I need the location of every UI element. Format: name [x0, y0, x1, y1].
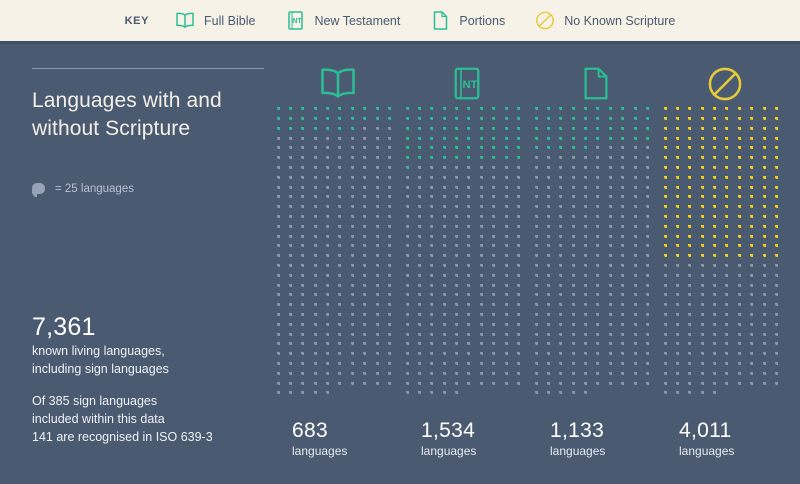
dot-cell — [326, 226, 338, 236]
dot-cell — [288, 324, 300, 334]
dot-cell — [455, 128, 467, 138]
dot-cell — [301, 324, 313, 334]
dot-cell — [288, 226, 300, 236]
dot-cell — [559, 392, 571, 402]
dot-cell — [700, 226, 712, 236]
open-book-icon — [175, 10, 195, 32]
total-languages-line-2: including sign languages — [32, 361, 282, 379]
dot-cell — [725, 275, 737, 285]
dot-cell — [546, 275, 558, 285]
dot-cell — [663, 226, 675, 236]
title-divider — [32, 68, 264, 69]
dot-grid-new-testament — [405, 108, 529, 402]
column-footer-no-known-scripture: 4,011 languages — [663, 420, 792, 458]
dot-cell — [534, 373, 546, 383]
dot-cell — [405, 392, 417, 402]
nt-book-icon: NT — [285, 10, 305, 32]
dot-cell — [688, 177, 700, 187]
dot-cell — [417, 128, 429, 138]
key-legend-bar: KEY Full Bible NT New Testament Port — [0, 0, 800, 44]
dot-cell — [388, 226, 400, 236]
dot-cell — [326, 324, 338, 334]
dot-cell — [633, 177, 645, 187]
dot-cell — [608, 324, 620, 334]
dot-cell — [762, 324, 774, 334]
dot-cell — [596, 275, 608, 285]
dot-cell — [621, 226, 633, 236]
dot-cell — [430, 324, 442, 334]
column-footer-new-testament: 1,534 languages — [405, 420, 534, 458]
dot-cell — [442, 275, 454, 285]
dot-cell — [646, 177, 658, 187]
dot-cell — [492, 324, 504, 334]
open-book-icon — [318, 67, 358, 105]
dot-cell — [737, 382, 749, 392]
dot-cell — [737, 226, 749, 236]
dot-cell — [559, 324, 571, 334]
dot-cell — [571, 392, 583, 402]
unit-key-label: = 25 languages — [55, 183, 134, 195]
dot-cell — [633, 226, 645, 236]
dot-cell — [313, 177, 325, 187]
dot-cell — [559, 177, 571, 187]
dot-cell — [534, 392, 546, 402]
dot-cell — [388, 177, 400, 187]
dot-cell — [546, 226, 558, 236]
dot-cell — [288, 275, 300, 285]
dot-cell — [559, 226, 571, 236]
dot-cell — [417, 177, 429, 187]
page-title: Languages with and without Scripture — [32, 87, 264, 143]
dot-cell — [363, 177, 375, 187]
dot-cell — [338, 177, 350, 187]
dot-cell — [750, 324, 762, 334]
dot-cell — [737, 128, 749, 138]
dot-cell — [350, 275, 362, 285]
dot-cell — [700, 177, 712, 187]
dot-cell — [750, 177, 762, 187]
dot-cell — [725, 324, 737, 334]
dot-cell — [492, 177, 504, 187]
dot-cell — [646, 275, 658, 285]
dot-cell — [775, 324, 787, 334]
dot-cell — [646, 382, 658, 392]
dot-cell — [688, 226, 700, 236]
unit-key: = 25 languages — [32, 183, 264, 195]
dot-cell — [388, 373, 400, 383]
note-line-3: 141 are recognised in ISO 639-3 — [32, 428, 292, 446]
legend-item-full-bible[interactable]: Full Bible — [175, 10, 255, 32]
dot-cell — [479, 382, 491, 392]
dot-cell — [713, 177, 725, 187]
dot-cell — [608, 128, 620, 138]
legend-label-full-bible: Full Bible — [204, 14, 255, 28]
dot-cell — [504, 226, 516, 236]
dot-cell — [584, 128, 596, 138]
dot-cell — [455, 275, 467, 285]
dot-cell — [675, 177, 687, 187]
dot-cell — [621, 382, 633, 392]
dot-cell — [405, 226, 417, 236]
dot-cell — [363, 324, 375, 334]
dot-cell — [750, 382, 762, 392]
legend-label-no-known-scripture: No Known Scripture — [564, 14, 675, 28]
dot-cell — [571, 373, 583, 383]
dot-cell — [725, 226, 737, 236]
dot-cell — [467, 373, 479, 383]
dot-cell — [479, 177, 491, 187]
dot-cell — [338, 373, 350, 383]
dot-cell — [700, 324, 712, 334]
dot-cell — [633, 128, 645, 138]
dot-cell — [517, 177, 529, 187]
dot-cell — [571, 226, 583, 236]
dot-cell — [417, 275, 429, 285]
dot-cell — [534, 275, 546, 285]
dot-cell — [375, 275, 387, 285]
dot-cell — [559, 373, 571, 383]
dot-cell — [688, 392, 700, 402]
dot-cell — [504, 275, 516, 285]
dot-cell — [479, 128, 491, 138]
dot-chart-columns: 683 languages NT 1,534 languages — [276, 64, 792, 458]
dot-cell — [633, 275, 645, 285]
dot-cell — [405, 177, 417, 187]
dot-cell — [479, 324, 491, 334]
no-scripture-icon — [535, 10, 555, 32]
dot-cell — [621, 177, 633, 187]
dot-cell — [663, 324, 675, 334]
dot-cell — [571, 324, 583, 334]
dot-cell — [700, 373, 712, 383]
dot-cell — [775, 275, 787, 285]
dot-cell — [596, 382, 608, 392]
dot-cell — [633, 373, 645, 383]
dot-cell — [675, 128, 687, 138]
total-languages-number: 7,361 — [32, 314, 282, 340]
dot-cell — [663, 128, 675, 138]
dot-cell — [479, 226, 491, 236]
dot-cell — [388, 382, 400, 392]
dot-cell — [375, 373, 387, 383]
dot-cell — [430, 275, 442, 285]
dot-cell — [688, 275, 700, 285]
dot-cell — [608, 373, 620, 383]
dot-cell — [350, 128, 362, 138]
dot-cell — [571, 177, 583, 187]
dot-cell — [517, 275, 529, 285]
dot-cell — [559, 128, 571, 138]
dot-cell — [596, 177, 608, 187]
dot-grid-no-known-scripture — [663, 108, 787, 402]
total-languages-stat: 7,361 known living languages, including … — [32, 314, 282, 379]
dot-cell — [775, 226, 787, 236]
dot-cell — [313, 373, 325, 383]
dot-cell — [596, 226, 608, 236]
dot-cell — [621, 373, 633, 383]
svg-text:NT: NT — [462, 79, 477, 91]
dot-cell — [608, 226, 620, 236]
dot-cell — [301, 226, 313, 236]
dot-cell — [571, 128, 583, 138]
no-scripture-icon — [707, 66, 743, 107]
dot-cell — [663, 275, 675, 285]
dot-cell — [750, 128, 762, 138]
column-unit-new-testament: languages — [421, 444, 534, 458]
dot-cell — [326, 392, 338, 402]
dot-cell — [442, 177, 454, 187]
note-line-1: Of 385 sign languages — [32, 392, 292, 410]
dot-cell — [417, 392, 429, 402]
dot-cell — [517, 324, 529, 334]
dot-cell — [504, 373, 516, 383]
nt-book-icon: NT — [454, 67, 480, 105]
dot-cell — [479, 275, 491, 285]
dot-cell — [633, 324, 645, 334]
dot-cell — [775, 382, 787, 392]
dot-cell — [388, 275, 400, 285]
legend-label-new-testament: New Testament — [314, 14, 400, 28]
dot-cell — [442, 128, 454, 138]
dot-cell — [276, 226, 288, 236]
dot-cell — [534, 226, 546, 236]
dot-cell — [713, 324, 725, 334]
dot-cell — [350, 177, 362, 187]
dot-cell — [646, 373, 658, 383]
dot-cell — [405, 324, 417, 334]
dot-cell — [276, 275, 288, 285]
dot-cell — [301, 275, 313, 285]
dot-cell — [504, 128, 516, 138]
dot-cell — [675, 226, 687, 236]
dot-cell — [430, 373, 442, 383]
dot-cell — [479, 373, 491, 383]
dot-cell — [467, 275, 479, 285]
dot-cell — [455, 177, 467, 187]
dot-cell — [546, 392, 558, 402]
dot-cell — [405, 128, 417, 138]
dot-cell — [663, 392, 675, 402]
dot-cell — [608, 177, 620, 187]
dot-cell — [584, 324, 596, 334]
dot-cell — [646, 226, 658, 236]
dot-cell — [750, 275, 762, 285]
dot-cell — [375, 324, 387, 334]
dot-cell — [301, 177, 313, 187]
dot-cell — [725, 373, 737, 383]
dot-cell — [608, 382, 620, 392]
infographic-board: Languages with and without Scripture = 2… — [0, 44, 800, 481]
dot-cell — [504, 177, 516, 187]
dot-cell — [442, 373, 454, 383]
chart-column-new-testament: NT 1,534 languages — [405, 64, 534, 458]
dot-cell — [350, 382, 362, 392]
dot-cell — [534, 177, 546, 187]
dot-cell — [737, 373, 749, 383]
dot-cell — [737, 275, 749, 285]
dot-cell — [455, 324, 467, 334]
dot-cell — [467, 128, 479, 138]
dot-cell — [430, 177, 442, 187]
dot-cell — [350, 226, 362, 236]
dot-cell — [584, 392, 596, 402]
chart-column-full-bible: 683 languages — [276, 64, 405, 458]
dot-cell — [338, 128, 350, 138]
dot-cell — [700, 392, 712, 402]
dot-cell — [276, 373, 288, 383]
dot-cell — [700, 275, 712, 285]
page-portion-icon — [583, 67, 609, 105]
legend-item-portions[interactable]: Portions — [430, 10, 505, 32]
column-count-no-known-scripture: 4,011 — [679, 420, 792, 442]
dot-cell — [596, 373, 608, 383]
column-unit-full-bible: languages — [292, 444, 405, 458]
dot-cell — [388, 128, 400, 138]
legend-item-new-testament[interactable]: NT New Testament — [285, 10, 400, 32]
note-line-2: included within this data — [32, 410, 292, 428]
dot-cell — [417, 373, 429, 383]
legend-item-no-known-scripture[interactable]: No Known Scripture — [535, 10, 675, 32]
dot-cell — [363, 128, 375, 138]
dot-cell — [762, 373, 774, 383]
dot-cell — [584, 177, 596, 187]
dot-cell — [467, 177, 479, 187]
dot-cell — [584, 275, 596, 285]
dot-cell — [596, 324, 608, 334]
dot-cell — [276, 392, 288, 402]
column-unit-portions: languages — [550, 444, 663, 458]
column-unit-no-known-scripture: languages — [679, 444, 792, 458]
dot-cell — [750, 373, 762, 383]
dot-cell — [646, 128, 658, 138]
dot-cell — [455, 392, 467, 402]
dot-cell — [775, 128, 787, 138]
dot-cell — [663, 177, 675, 187]
dot-cell — [467, 226, 479, 236]
dot-cell — [675, 324, 687, 334]
dot-cell — [313, 324, 325, 334]
legend-label-portions: Portions — [459, 14, 505, 28]
chart-column-no-known-scripture: 4,011 languages — [663, 64, 792, 458]
dot-cell — [375, 177, 387, 187]
dot-cell — [517, 226, 529, 236]
column-count-full-bible: 683 — [292, 420, 405, 442]
dot-cell — [688, 324, 700, 334]
dot-cell — [430, 226, 442, 236]
column-footer-portions: 1,133 languages — [534, 420, 663, 458]
dot-cell — [405, 373, 417, 383]
dot-cell — [762, 226, 774, 236]
dot-cell — [288, 128, 300, 138]
dot-cell — [350, 324, 362, 334]
column-footer-full-bible: 683 languages — [276, 420, 405, 458]
dot-grid-portions — [534, 108, 658, 402]
dot-cell — [663, 373, 675, 383]
total-languages-description: known living languages, including sign l… — [32, 343, 282, 379]
dot-cell — [405, 275, 417, 285]
key-label: KEY — [125, 15, 149, 27]
dot-cell — [492, 382, 504, 392]
dot-cell — [608, 275, 620, 285]
dot-cell — [442, 324, 454, 334]
dot-cell — [621, 275, 633, 285]
dot-cell — [546, 324, 558, 334]
dot-cell — [713, 128, 725, 138]
dot-cell — [584, 373, 596, 383]
dot-cell — [713, 226, 725, 236]
dot-cell — [430, 128, 442, 138]
dot-cell — [546, 373, 558, 383]
chart-column-portions: 1,133 languages — [534, 64, 663, 458]
dot-cell — [363, 275, 375, 285]
dot-cell — [326, 373, 338, 383]
dot-cell — [363, 226, 375, 236]
dot-cell — [675, 373, 687, 383]
dot-cell — [737, 177, 749, 187]
dot-cell — [313, 392, 325, 402]
dot-cell — [546, 128, 558, 138]
dot-cell — [288, 392, 300, 402]
dot-cell — [762, 177, 774, 187]
dot-cell — [492, 275, 504, 285]
dot-cell — [713, 275, 725, 285]
dot-cell — [725, 177, 737, 187]
dot-cell — [363, 373, 375, 383]
dot-cell — [688, 373, 700, 383]
dot-cell — [737, 324, 749, 334]
dot-cell — [571, 275, 583, 285]
dot-cell — [725, 128, 737, 138]
dot-cell — [534, 324, 546, 334]
dot-cell — [546, 177, 558, 187]
dot-cell — [633, 382, 645, 392]
dot-cell — [288, 177, 300, 187]
left-panel: Languages with and without Scripture = 2… — [32, 68, 264, 195]
dot-cell — [338, 324, 350, 334]
dot-cell — [375, 226, 387, 236]
dot-cell — [326, 128, 338, 138]
dot-cell — [688, 128, 700, 138]
dot-cell — [442, 226, 454, 236]
dot-cell — [492, 128, 504, 138]
dot-cell — [276, 177, 288, 187]
dot-cell — [646, 324, 658, 334]
dot-cell — [750, 226, 762, 236]
dot-cell — [504, 324, 516, 334]
dot-cell — [455, 373, 467, 383]
dot-cell — [326, 275, 338, 285]
dot-cell — [430, 392, 442, 402]
dot-cell — [596, 128, 608, 138]
total-languages-line-1: known living languages, — [32, 343, 282, 361]
dot-cell — [621, 128, 633, 138]
dot-cell — [559, 275, 571, 285]
speech-bubble-icon — [32, 183, 45, 194]
dot-cell — [455, 226, 467, 236]
dot-cell — [517, 382, 529, 392]
dot-cell — [288, 373, 300, 383]
dot-cell — [762, 275, 774, 285]
dot-cell — [313, 226, 325, 236]
dot-cell — [338, 382, 350, 392]
dot-cell — [388, 324, 400, 334]
dot-cell — [442, 392, 454, 402]
dot-cell — [301, 392, 313, 402]
dot-cell — [301, 128, 313, 138]
dot-cell — [534, 128, 546, 138]
dot-cell — [363, 382, 375, 392]
dot-cell — [762, 128, 774, 138]
